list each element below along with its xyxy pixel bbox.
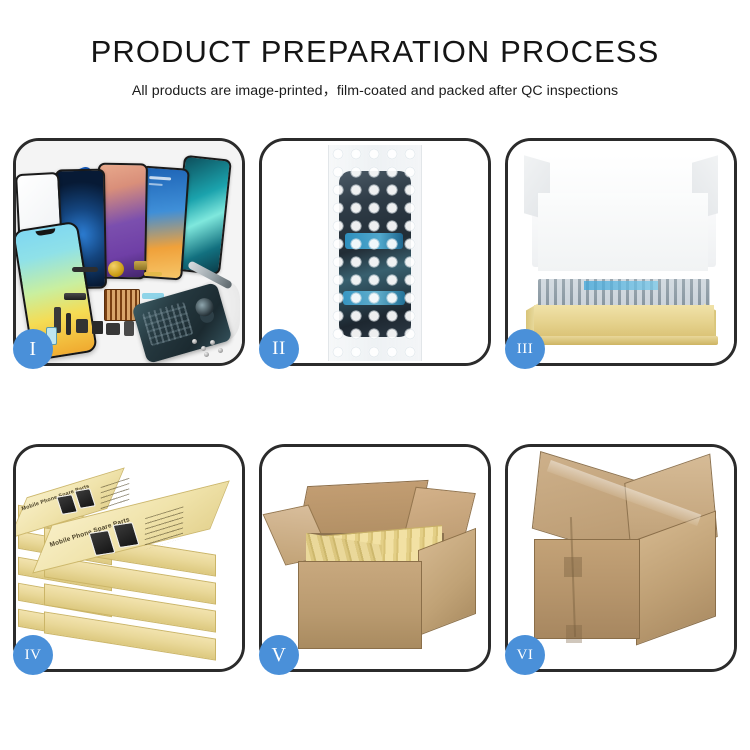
step-panel-6: VI: [505, 444, 737, 672]
header: PRODUCT PREPARATION PROCESS All products…: [0, 0, 750, 100]
part-gold-connector: [134, 261, 147, 270]
part-small-module: [64, 293, 86, 300]
step-panel-3: III: [505, 138, 737, 366]
mailer-inner-wall: [538, 193, 708, 271]
sealed-carton-front-wall: [534, 539, 640, 639]
carton-front-wall: [298, 561, 422, 649]
step-2-image: [262, 141, 488, 363]
part-chip-c: [106, 323, 120, 335]
part-cable-b: [66, 313, 71, 335]
part-flex-strip: [72, 267, 98, 272]
step-badge-5: V: [259, 635, 299, 675]
steps-grid: I II: [13, 138, 737, 672]
step-4-image: Mobile Phone Spare Parts Mobile Phone Sp…: [16, 447, 242, 669]
step-panel-5: V: [259, 444, 491, 672]
carton-tab-upper: [564, 557, 582, 577]
part-chip-b: [92, 321, 103, 334]
part-chip-a: [76, 319, 88, 333]
mailer-contents-bubblewrapped: [538, 279, 710, 307]
step-badge-2: II: [259, 329, 299, 369]
step-5-image: [262, 447, 488, 669]
carton-tab-lower: [566, 625, 582, 643]
step-6-image: [508, 447, 734, 669]
part-button-flex: [144, 272, 162, 276]
step-badge-6: VI: [505, 635, 545, 675]
mailer-front-wall: [534, 305, 714, 339]
page-title: PRODUCT PREPARATION PROCESS: [0, 36, 750, 69]
part-chip-d: [124, 321, 134, 336]
part-speaker-coil: [108, 261, 124, 277]
screws-group: [192, 337, 226, 357]
product-preparation-infographic: PRODUCT PREPARATION PROCESS All products…: [0, 0, 750, 750]
step-3-image: [508, 141, 734, 363]
step-badge-3: III: [505, 329, 545, 369]
step-badge-1: I: [13, 329, 53, 369]
step-badge-4: IV: [13, 635, 53, 675]
kraft-box-stack: Mobile Phone Spare Parts Mobile Phone Sp…: [16, 447, 242, 669]
step-panel-1: I: [13, 138, 245, 366]
page-subtitle: All products are image-printed，film-coat…: [0, 80, 750, 100]
bubble-highlight-layer: [329, 145, 421, 361]
step-panel-4: Mobile Phone Spare Parts Mobile Phone Sp…: [13, 444, 245, 672]
mailer-front-lip: [530, 336, 718, 345]
step-1-image: [16, 141, 242, 363]
bubble-wrap-bag: [328, 145, 422, 361]
step-panel-2: II: [259, 138, 491, 366]
